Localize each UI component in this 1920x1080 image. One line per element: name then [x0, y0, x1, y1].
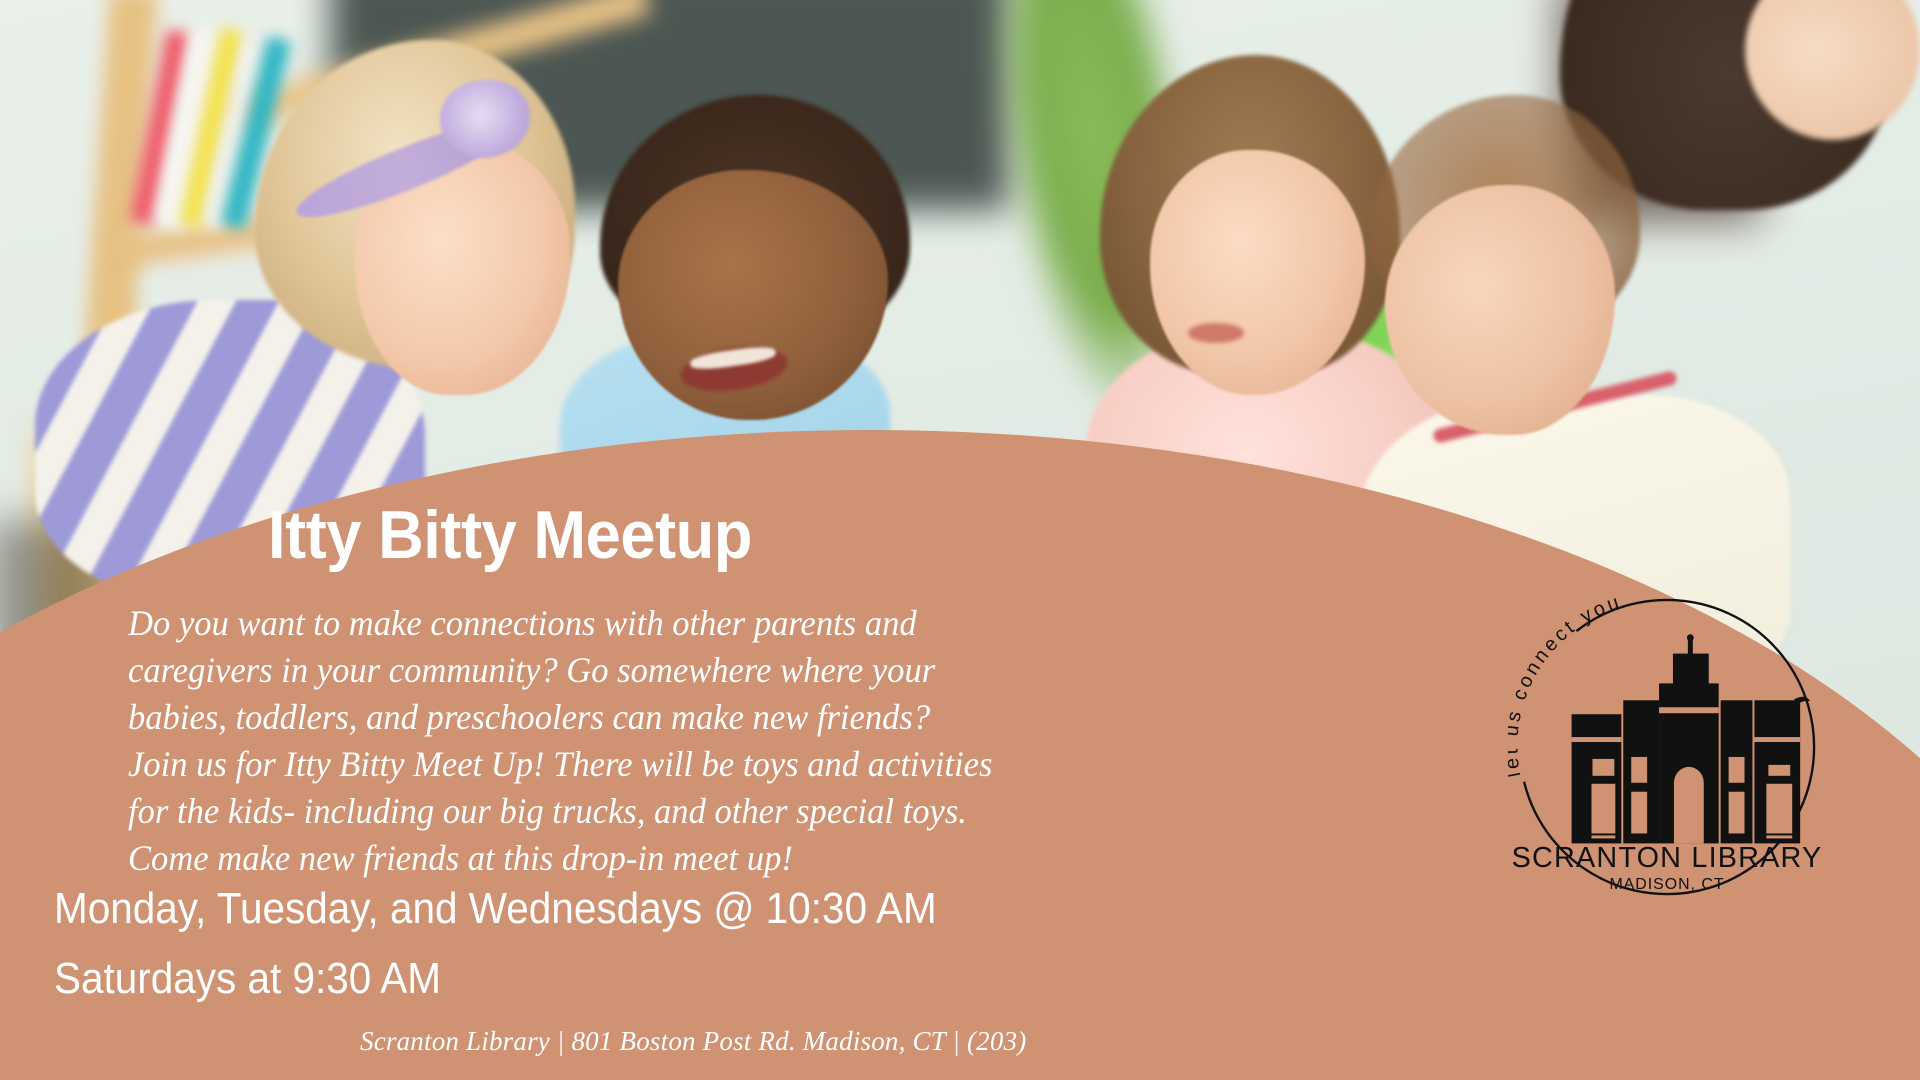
page-title: Itty Bitty Meetup [268, 501, 752, 569]
body-line: Do you want to make connections with oth… [128, 600, 1088, 647]
poster-content: Itty Bitty Meetup Do you want to make co… [0, 0, 1920, 1080]
body-line: caregivers in your community? Go somewhe… [128, 647, 1088, 694]
schedule-saturday-line: Saturdays at 9:30 AM [54, 950, 937, 1008]
body-line: Join us for Itty Bitty Meet Up! There wi… [128, 741, 1088, 788]
body-line: babies, toddlers, and preschoolers can m… [128, 694, 1088, 741]
logo-svg: let us connect you [1508, 588, 1826, 906]
poster-canvas: Itty Bitty Meetup Do you want to make co… [0, 0, 1920, 1080]
schedule-weekday-line: Monday, Tuesday, and Wednesdays @ 10:30 … [54, 880, 937, 938]
body-description: Do you want to make connections with oth… [128, 600, 1088, 882]
logo-location-text: MADISON, CT [1609, 876, 1724, 893]
logo-name-text: SCRANTON LIBRARY [1512, 842, 1823, 874]
body-line: for the kids- including our big trucks, … [128, 788, 1088, 835]
scranton-library-logo: let us connect you [1508, 588, 1826, 906]
body-line: Come make new friends at this drop-in me… [128, 835, 1088, 882]
venue-address: Scranton Library | 801 Boston Post Rd. M… [360, 1026, 1026, 1057]
schedule-block: Monday, Tuesday, and Wednesdays @ 10:30 … [54, 880, 937, 1008]
